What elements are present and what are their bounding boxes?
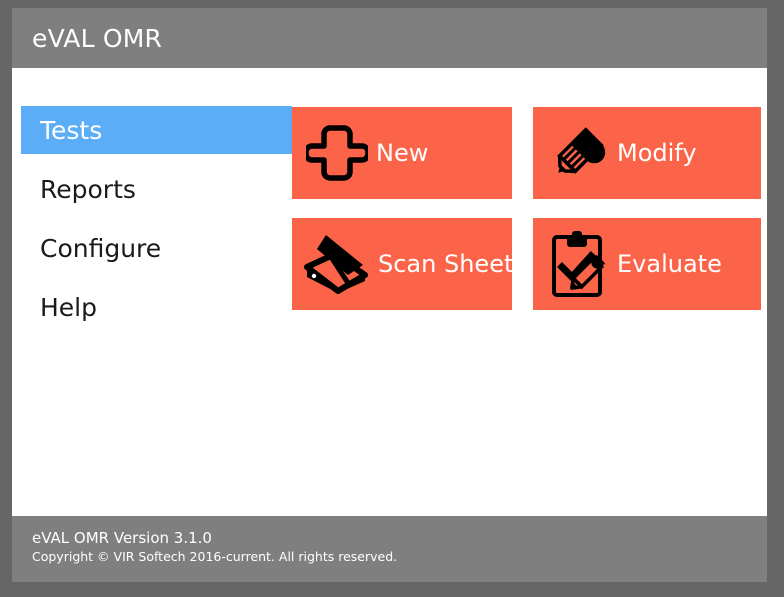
sidebar-item-reports[interactable]: Reports: [21, 165, 292, 213]
pencil-icon: [539, 122, 617, 184]
sidebar-item-tests[interactable]: Tests: [21, 106, 292, 154]
evaluate-tile[interactable]: Evaluate: [533, 218, 761, 310]
app-title: eVAL OMR: [32, 24, 162, 53]
sidebar-item-configure[interactable]: Configure: [21, 224, 292, 272]
tile-label: Modify: [617, 139, 697, 167]
content-area: Tests Reports Configure Help New: [12, 68, 767, 516]
tile-label: Evaluate: [617, 250, 722, 278]
sidebar-item-label: Reports: [40, 175, 136, 204]
title-bar: eVAL OMR: [12, 8, 767, 68]
scanner-icon: [294, 231, 378, 297]
tile-label: Scan Sheets: [378, 250, 512, 278]
tile-label: New: [376, 139, 428, 167]
sidebar-item-label: Configure: [40, 234, 161, 263]
sidebar-item-label: Help: [40, 293, 97, 322]
application-window: eVAL OMR Tests Reports Configure Help: [12, 8, 767, 582]
plus-icon: [298, 122, 376, 184]
new-test-tile[interactable]: New: [292, 107, 512, 199]
version-text: eVAL OMR Version 3.1.0: [32, 528, 767, 548]
sidebar-navigation: Tests Reports Configure Help: [12, 106, 292, 516]
copyright-text: Copyright © VIR Softech 2016-current. Al…: [32, 548, 767, 566]
sidebar-item-help[interactable]: Help: [21, 283, 292, 331]
sidebar-item-label: Tests: [40, 116, 102, 145]
modify-test-tile[interactable]: Modify: [533, 107, 761, 199]
scan-sheets-tile[interactable]: Scan Sheets: [292, 218, 512, 310]
action-tile-grid: New: [292, 106, 767, 516]
status-bar: eVAL OMR Version 3.1.0 Copyright © VIR S…: [12, 516, 767, 582]
clipboard-check-icon: [541, 229, 617, 299]
